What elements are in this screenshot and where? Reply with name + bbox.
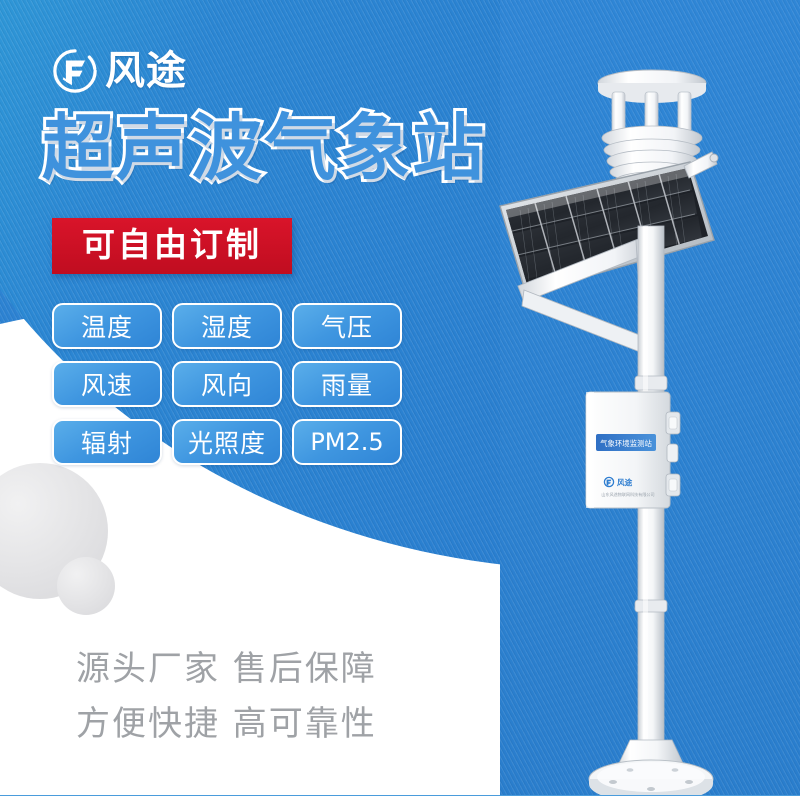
feature-pill-grid: 温度 湿度 气压 风速 风向 雨量 辐射 光照度 PM2.5 [52, 303, 402, 465]
solar-panel [500, 162, 714, 294]
feature-pill-label: 光照度 [188, 424, 266, 460]
feature-pill-illuminance[interactable]: 光照度 [172, 419, 282, 465]
enclosure-label-text: 气象环境监测站 [600, 439, 652, 448]
status-badge: 可自由订制 [52, 218, 292, 274]
brand-name: 风途 [105, 51, 187, 91]
enclosure-brand-text: 风途 [617, 477, 633, 487]
feature-pill-humidity[interactable]: 湿度 [172, 303, 282, 349]
tagline-group: 源头厂家 售后保障 方便快捷 高可靠性 [76, 642, 377, 752]
feature-pill-label: 风速 [81, 366, 133, 402]
controller-enclosure: 气象环境监测站 风途 山东风途物联网科技有限公司 [586, 392, 680, 508]
tagline-secondary: 方便快捷 高可靠性 [76, 697, 377, 752]
feature-pill-label: 辐射 [81, 424, 133, 460]
enclosure-company-text: 山东风途物联网科技有限公司 [601, 491, 654, 497]
feature-pill-pm25[interactable]: PM2.5 [292, 419, 402, 465]
feature-pill-label: 雨量 [321, 366, 373, 402]
feature-pill-radiation[interactable]: 辐射 [52, 419, 162, 465]
product-poster: 风途 超声波气象站 可自由订制 温度 湿度 气压 风速 风向 雨量 辐射 光照度… [0, 0, 800, 800]
feature-pill-temperature[interactable]: 温度 [52, 303, 162, 349]
product-image: 气象环境监测站 风途 山东风途物联网科技有限公司 [470, 40, 800, 800]
badge-label: 可自由订制 [82, 225, 262, 264]
feature-pill-wind-direction[interactable]: 风向 [172, 361, 282, 407]
page-title: 超声波气象站 [42, 112, 486, 184]
feature-pill-wind-speed[interactable]: 风速 [52, 361, 162, 407]
feature-pill-rainfall[interactable]: 雨量 [292, 361, 402, 407]
bottom-divider [0, 795, 800, 800]
fengtu-emblem-icon [52, 48, 98, 94]
feature-pill-label: 温度 [81, 308, 133, 344]
feature-pill-label: 湿度 [201, 308, 253, 344]
feature-pill-label: 风向 [201, 366, 253, 402]
brand-logo: 风途 [52, 48, 187, 94]
feature-pill-label: 气压 [321, 308, 373, 344]
feature-pill-label: PM2.5 [310, 428, 383, 456]
tagline-primary: 源头厂家 售后保障 [76, 642, 377, 697]
feature-pill-air-pressure[interactable]: 气压 [292, 303, 402, 349]
decorative-circle-small [57, 557, 115, 615]
base-flange [589, 740, 713, 800]
